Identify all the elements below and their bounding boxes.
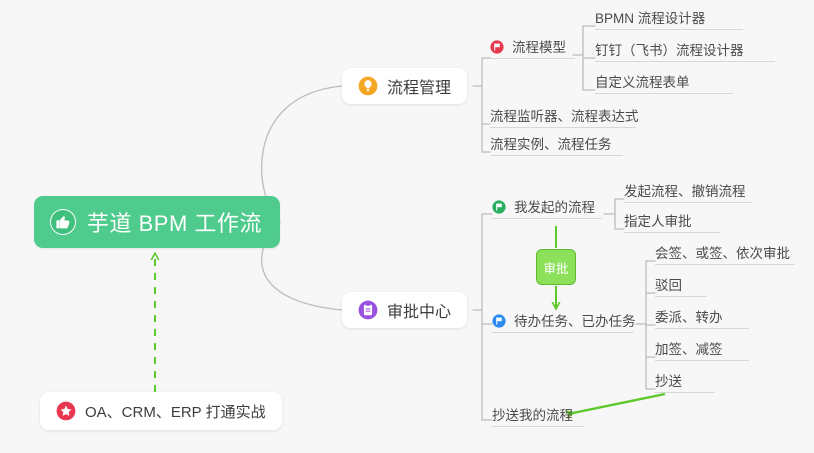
- branch-node-process-management[interactable]: 流程管理: [342, 68, 467, 104]
- node-label-todo-done-tasks: 待办任务、已办任务: [514, 315, 636, 329]
- node-label-start-cancel-process: 发起流程、撤销流程: [624, 185, 746, 199]
- branch-label-approval-center: 审批中心: [387, 298, 451, 322]
- callout-node-oa-crm-erp[interactable]: OA、CRM、ERP 打通实战: [40, 392, 282, 430]
- node-label-countersign-orsign-sequential: 会签、或签、依次审批: [655, 247, 790, 261]
- branch-label-process-management: 流程管理: [387, 74, 451, 98]
- flag-icon: [492, 200, 506, 214]
- node-label-dingtalk-feishu-designer: 钉钉（飞书）流程设计器: [595, 44, 744, 58]
- flag-icon: [490, 40, 504, 54]
- node-label-listener-expression: 流程监听器、流程表达式: [490, 110, 639, 124]
- node-label-cc: 抄送: [655, 375, 682, 389]
- node-dingtalk-feishu-designer[interactable]: 钉钉（飞书）流程设计器: [595, 40, 775, 62]
- node-add-remove-sign[interactable]: 加签、减签: [655, 339, 749, 361]
- node-cc-to-me-processes[interactable]: 抄送我的流程: [492, 405, 584, 427]
- node-delegate-transfer[interactable]: 委派、转办: [655, 307, 749, 329]
- node-label-custom-process-form: 自定义流程表单: [595, 76, 690, 90]
- thumbs-up-icon: [50, 209, 76, 235]
- mindmap-canvas: 芋道 BPM 工作流 流程管理 流程模型 BPMN 流程设计器 钉钉（飞书: [0, 0, 814, 453]
- node-assignee-approval[interactable]: 指定人审批: [624, 211, 720, 233]
- node-label-bpmn-designer: BPMN 流程设计器: [595, 12, 705, 26]
- node-process-model[interactable]: 流程模型: [490, 36, 575, 59]
- callout-label-oa-crm-erp: OA、CRM、ERP 打通实战: [85, 401, 266, 422]
- clipboard-icon: [358, 300, 378, 320]
- branch-node-approval-center[interactable]: 审批中心: [342, 292, 467, 328]
- node-cc[interactable]: 抄送: [655, 371, 715, 393]
- star-icon: [56, 401, 76, 421]
- node-label-delegate-transfer: 委派、转办: [655, 311, 723, 325]
- node-label-cc-to-me-processes: 抄送我的流程: [492, 409, 573, 423]
- node-bpmn-designer[interactable]: BPMN 流程设计器: [595, 8, 743, 30]
- node-instance-task[interactable]: 流程实例、流程任务: [490, 134, 623, 156]
- node-todo-done-tasks[interactable]: 待办任务、已办任务: [492, 310, 634, 333]
- node-countersign-orsign-sequential[interactable]: 会签、或签、依次审批: [655, 243, 795, 265]
- flag-icon: [492, 314, 506, 328]
- node-reject[interactable]: 驳回: [655, 275, 707, 297]
- node-label-reject: 驳回: [655, 279, 682, 293]
- node-label-process-model: 流程模型: [512, 41, 566, 55]
- root-label: 芋道 BPM 工作流: [87, 206, 262, 238]
- node-listener-expression[interactable]: 流程监听器、流程表达式: [490, 106, 636, 128]
- lightbulb-icon: [358, 76, 378, 96]
- approval-badge[interactable]: 审批: [536, 249, 576, 285]
- root-node[interactable]: 芋道 BPM 工作流: [34, 196, 280, 248]
- node-label-assignee-approval: 指定人审批: [624, 215, 692, 229]
- node-label-my-started-processes: 我发起的流程: [514, 201, 595, 215]
- node-start-cancel-process[interactable]: 发起流程、撤销流程: [624, 181, 752, 203]
- node-my-started-processes[interactable]: 我发起的流程: [492, 196, 602, 219]
- approval-badge-label: 审批: [543, 258, 568, 277]
- node-label-instance-task: 流程实例、流程任务: [490, 138, 612, 152]
- node-label-add-remove-sign: 加签、减签: [655, 343, 723, 357]
- node-custom-process-form[interactable]: 自定义流程表单: [595, 72, 733, 94]
